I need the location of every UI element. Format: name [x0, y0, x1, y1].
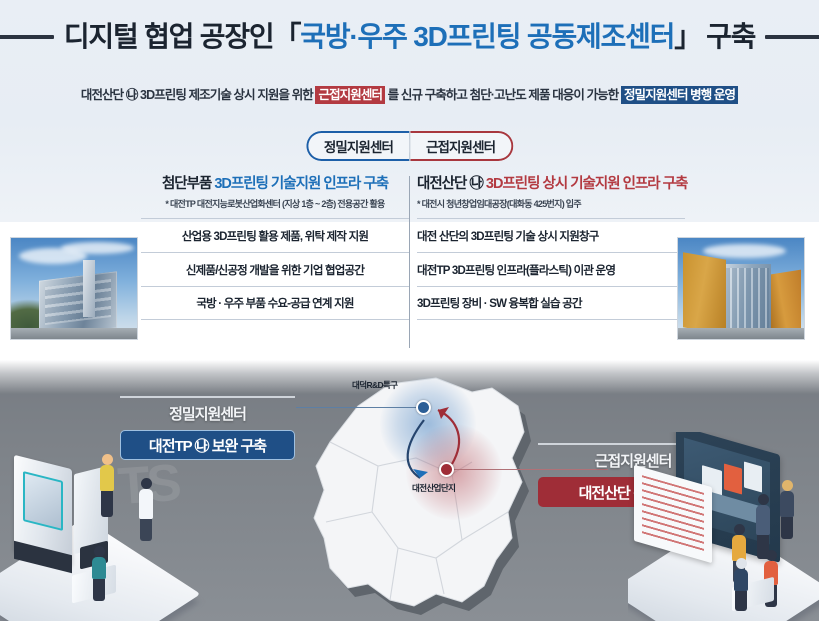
figure-head [102, 454, 113, 465]
column-divider [409, 176, 410, 348]
figure-legs [781, 517, 793, 539]
gold-panel-building-shape [683, 252, 726, 334]
figure-body [92, 557, 106, 579]
figure-legs [735, 591, 747, 611]
tab-precision-center[interactable]: 정밀지원센터 [306, 131, 409, 161]
map-label-precision: 대덕R&D특구 [352, 379, 398, 391]
headline-row: 디지털 협업 공장인 「 국방·우주 3D프린팅 공동제조센터 」 구축 [0, 12, 819, 62]
glass-building-shape [721, 264, 771, 331]
bracket-open: 「 [273, 22, 300, 53]
map-connector-arrows [286, 362, 536, 621]
figure-head [766, 550, 777, 561]
report-sheet-lines [642, 475, 704, 553]
headline-rule-left-icon [0, 35, 54, 39]
list-item: 산업용 3D프린팅 활용 제품, 위탁 제작 지원 [141, 218, 409, 252]
list-item: 대전TP 3D프린팅 인프라(플라스틱) 이관 운영 [417, 252, 685, 286]
column-precision-title: 첨단부품 3D프린팅 기술지원 인프라 구축 [141, 174, 409, 194]
3d-printer-window [23, 471, 63, 531]
tower-shape [83, 260, 96, 317]
column-precision-note: * 대전TP 대전지능로봇산업화센터 (지상 1층 ~ 2층) 전용공간 활용 [141, 197, 409, 211]
figure-legs [101, 491, 113, 517]
figure-body [139, 489, 153, 519]
figure-body [756, 505, 770, 535]
road-shape [11, 328, 137, 339]
column-proximity-title: 대전산단 ㉯ 3D프린팅 상시 기술지원 인프라 구축 [417, 174, 685, 194]
figure-head [758, 494, 769, 505]
subtitle-segment-1: 대전산단 ㉯ 3D프린팅 제조기술 상시 지원을 위한 [81, 88, 313, 102]
figure-body [780, 491, 794, 517]
map-label-proximity: 대전산업단지 [412, 482, 455, 494]
column-precision-title-accent: 3D프린팅 기술지원 인프라 구축 [214, 176, 388, 192]
title-part-1: 디지털 협업 공장인 [64, 22, 274, 53]
map-marker-precision[interactable] [416, 400, 431, 415]
column-proximity: 대전산단 ㉯ 3D프린팅 상시 기술지원 인프라 구축 * 대전시 청년창업임대… [417, 174, 685, 320]
list-item: 3D프린팅 장비 · SW 융복합 실습 공간 [417, 286, 685, 320]
gold-wing-building-shape [771, 270, 801, 333]
plaza-shape [678, 328, 804, 339]
subtitle-highlight-precision: 정밀지원센터 병행 운영 [621, 86, 738, 104]
figure-body [100, 465, 114, 491]
figure-head [736, 558, 747, 569]
subtitle: 대전산단 ㉯ 3D프린팅 제조기술 상시 지원을 위한 근접지원센터 를 신규 … [0, 85, 819, 105]
daejeon-map: 대덕R&D특구 대전산업단지 [286, 362, 536, 621]
dashboard-tile [724, 463, 742, 494]
figure-legs [93, 579, 105, 601]
dashboard-tile [744, 461, 762, 492]
column-precision-rows: 산업용 3D프린팅 활용 제품, 위탁 제작 지원 신제품/신공정 개발을 위한… [141, 218, 409, 320]
column-proximity-title-accent: 3D프린팅 상시 기술지원 인프라 구축 [486, 176, 687, 192]
title-part-2: 구축 [706, 22, 755, 53]
center-type-tabs[interactable]: 정밀지원센터 근접지원센터 [306, 131, 513, 161]
map-leader-line-precision [296, 407, 418, 408]
tab-proximity-center[interactable]: 근접지원센터 [410, 131, 513, 161]
callout-precision-rule [120, 396, 295, 398]
list-item: 국방 · 우주 부품 수요-공급 연계 지원 [141, 286, 409, 320]
subtitle-segment-2: 를 신규 구축하고 첨단·고난도 제품 대응이 가능한 [388, 88, 619, 102]
bracket-close: 」 [674, 22, 701, 53]
column-precision-title-plain: 첨단부품 [162, 176, 211, 192]
map-marker-proximity[interactable] [439, 462, 454, 477]
title-highlight: 국방·우주 3D프린팅 공동제조센터 [300, 22, 674, 53]
subtitle-highlight-proximity: 근접지원센터 [315, 86, 385, 104]
page-title: 디지털 협업 공장인 「 국방·우주 3D프린팅 공동제조센터 」 구축 [64, 22, 755, 53]
photo-daejeon-tp-building [10, 237, 138, 340]
column-proximity-rows: 대전 산단의 3D프린팅 기술 상시 지원창구 대전TP 3D프린팅 인프라(플… [417, 218, 685, 320]
photo-daejeon-industrial-complex [677, 237, 805, 340]
figure-body [732, 535, 746, 561]
figure-head [734, 524, 745, 535]
figure-head [141, 478, 152, 489]
column-proximity-title-plain: 대전산단 ㉯ [417, 176, 483, 192]
infographic-page: 디지털 협업 공장인 「 국방·우주 3D프린팅 공동제조센터 」 구축 대전산… [0, 0, 819, 621]
list-item: 신제품/신공정 개발을 위한 기업 협업공간 [141, 252, 409, 286]
figure-body [734, 569, 748, 591]
column-precision: 첨단부품 3D프린팅 기술지원 인프라 구축 * 대전TP 대전지능로봇산업화센… [141, 174, 409, 320]
figure-head [94, 546, 105, 557]
column-proximity-note: * 대전시 청년창업임대공장(대화동 425번지) 입주 [417, 197, 685, 211]
headline-rule-right-icon [765, 35, 819, 39]
figure-legs [140, 519, 152, 541]
figure-head [782, 480, 793, 491]
list-item: 대전 산단의 3D프린팅 기술 상시 지원창구 [417, 218, 685, 252]
illustration-3d-printing-lab [0, 418, 209, 621]
illustration-collaboration-dashboard [628, 432, 819, 621]
